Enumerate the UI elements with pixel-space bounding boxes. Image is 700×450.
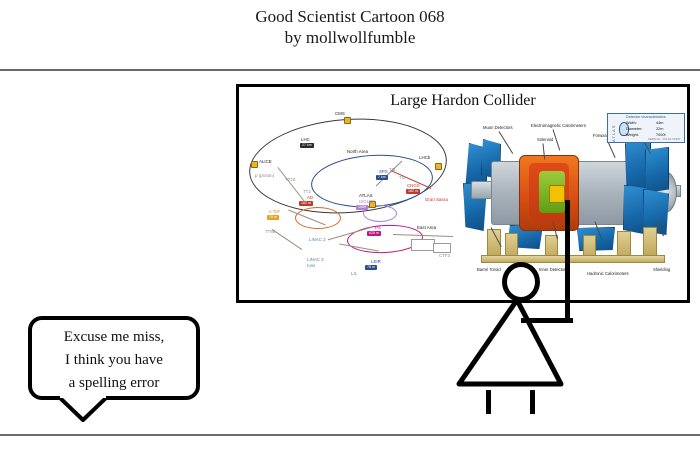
chip-ad: 182 m xyxy=(299,201,313,206)
header-divider-rule xyxy=(0,69,700,71)
callout-shielding: Shielding xyxy=(653,267,670,272)
label-tt60: TT60 xyxy=(265,229,275,234)
title-line-2: by mollwollfumble xyxy=(0,27,700,48)
label-tt2: TT2 xyxy=(303,189,311,194)
speech-line-1: Excuse me miss, xyxy=(32,326,196,349)
label-cngs: CNGS xyxy=(407,183,420,188)
figure-leg-right xyxy=(530,390,535,414)
label-tt10: TT10 xyxy=(285,177,295,182)
callout-solenoid: Solenoid xyxy=(537,137,553,142)
east-area-box xyxy=(411,239,435,251)
label-sps: SPS xyxy=(379,169,388,174)
accelerator-complex-diagram: CMS ALICE ATLAS LHCb LHC 27 km SPS 7 km … xyxy=(243,113,457,299)
scientist-stick-figure xyxy=(455,258,595,418)
infobox-footnote: CERN AC - ATLAS V1997 xyxy=(648,137,680,141)
chip-lhc: 27 km xyxy=(300,143,314,148)
label-leir: LEIR xyxy=(371,259,381,264)
infobox-heading: Detector characteristics xyxy=(626,115,666,119)
speech-line-3: a spelling error xyxy=(32,372,196,395)
label-n-tof: n-ToF xyxy=(269,209,280,214)
infobox-value-diameter: 22m xyxy=(656,127,663,132)
chip-leir: 78 m xyxy=(365,265,377,270)
speech-bubble-tail xyxy=(58,396,108,422)
label-isolde: ISOLDE xyxy=(359,199,375,204)
chip-n-tof: 78 m xyxy=(267,215,279,220)
callout-em-calorimeters: Electromagnetic Calorimeters xyxy=(531,123,586,128)
label-atlas: ATLAS xyxy=(359,193,373,198)
infobox-key-width: Width: xyxy=(626,121,637,126)
callout-muon-detectors: Muon Detectors xyxy=(483,125,513,130)
title-line-1: Good Scientist Cartoon 068 xyxy=(0,6,700,27)
label-ti2: TI2 xyxy=(399,175,405,180)
label-ctf3: CTF3 xyxy=(439,253,450,258)
isolde-ring xyxy=(363,205,397,222)
end-cap-toroid-right-3 xyxy=(645,147,669,193)
label-ions: Ions xyxy=(307,263,315,268)
label-linac2: LINAC 2 xyxy=(309,237,326,242)
speech-bubble: Excuse me miss, I think you have a spell… xyxy=(28,316,200,400)
label-lil: LIL xyxy=(351,271,357,276)
node-alice xyxy=(251,161,258,168)
infobox-value-width: 44m xyxy=(656,121,663,126)
detector-core xyxy=(549,185,565,203)
label-north-area: North Area xyxy=(347,149,368,154)
label-east-area: East Area xyxy=(417,225,436,230)
label-cms: CMS xyxy=(335,111,345,116)
label-ad: AD xyxy=(307,195,313,200)
cartoon-header: Good Scientist Cartoon 068 by mollwollfu… xyxy=(0,0,700,69)
label-alice: ALICE xyxy=(259,159,272,164)
speech-bubble-text: Excuse me miss, I think you have a spell… xyxy=(32,326,196,395)
label-ti8: TI8 xyxy=(389,167,395,172)
infobox-key-diameter: Diameter: xyxy=(626,127,642,132)
speech-line-2: I think you have xyxy=(32,349,196,372)
label-lhcb: LHCb xyxy=(419,155,430,160)
detector-characteristics-box: ATLAS Detector characteristics Width: 44… xyxy=(607,113,685,143)
chip-cngs: 182 m xyxy=(406,189,420,194)
figure-head xyxy=(502,262,540,302)
chip-ps: 628 m xyxy=(367,231,381,236)
chip-sps: 7 km xyxy=(376,175,388,180)
support-leg-6 xyxy=(643,227,657,257)
label-ps: PS xyxy=(375,225,381,230)
node-lhcb xyxy=(435,163,442,170)
infobox-key-weight: Weight: xyxy=(626,133,639,138)
bottom-divider-rule xyxy=(0,434,700,436)
label-gran-sasso: Gran Sasso xyxy=(425,197,448,202)
east-area-box-2 xyxy=(433,243,451,253)
slide-title: Large Hardon Collider xyxy=(239,91,687,111)
cartoon-title: Good Scientist Cartoon 068 by mollwollfu… xyxy=(0,6,700,48)
label-linac3: LINAC 3 xyxy=(307,257,324,262)
pointer-stick xyxy=(565,200,570,322)
transfer-line-f xyxy=(272,229,302,250)
figure-leg-left xyxy=(486,390,491,414)
callout-line-emcal xyxy=(553,129,561,150)
label-lhc: LHC xyxy=(301,137,310,142)
node-cms xyxy=(344,117,351,124)
ad-ring xyxy=(295,207,341,229)
label-proton: p (proton) xyxy=(255,173,274,178)
figure-dress-body xyxy=(455,298,565,388)
figure-arm xyxy=(521,318,573,323)
chip-isolde: 1989 xyxy=(356,205,368,210)
